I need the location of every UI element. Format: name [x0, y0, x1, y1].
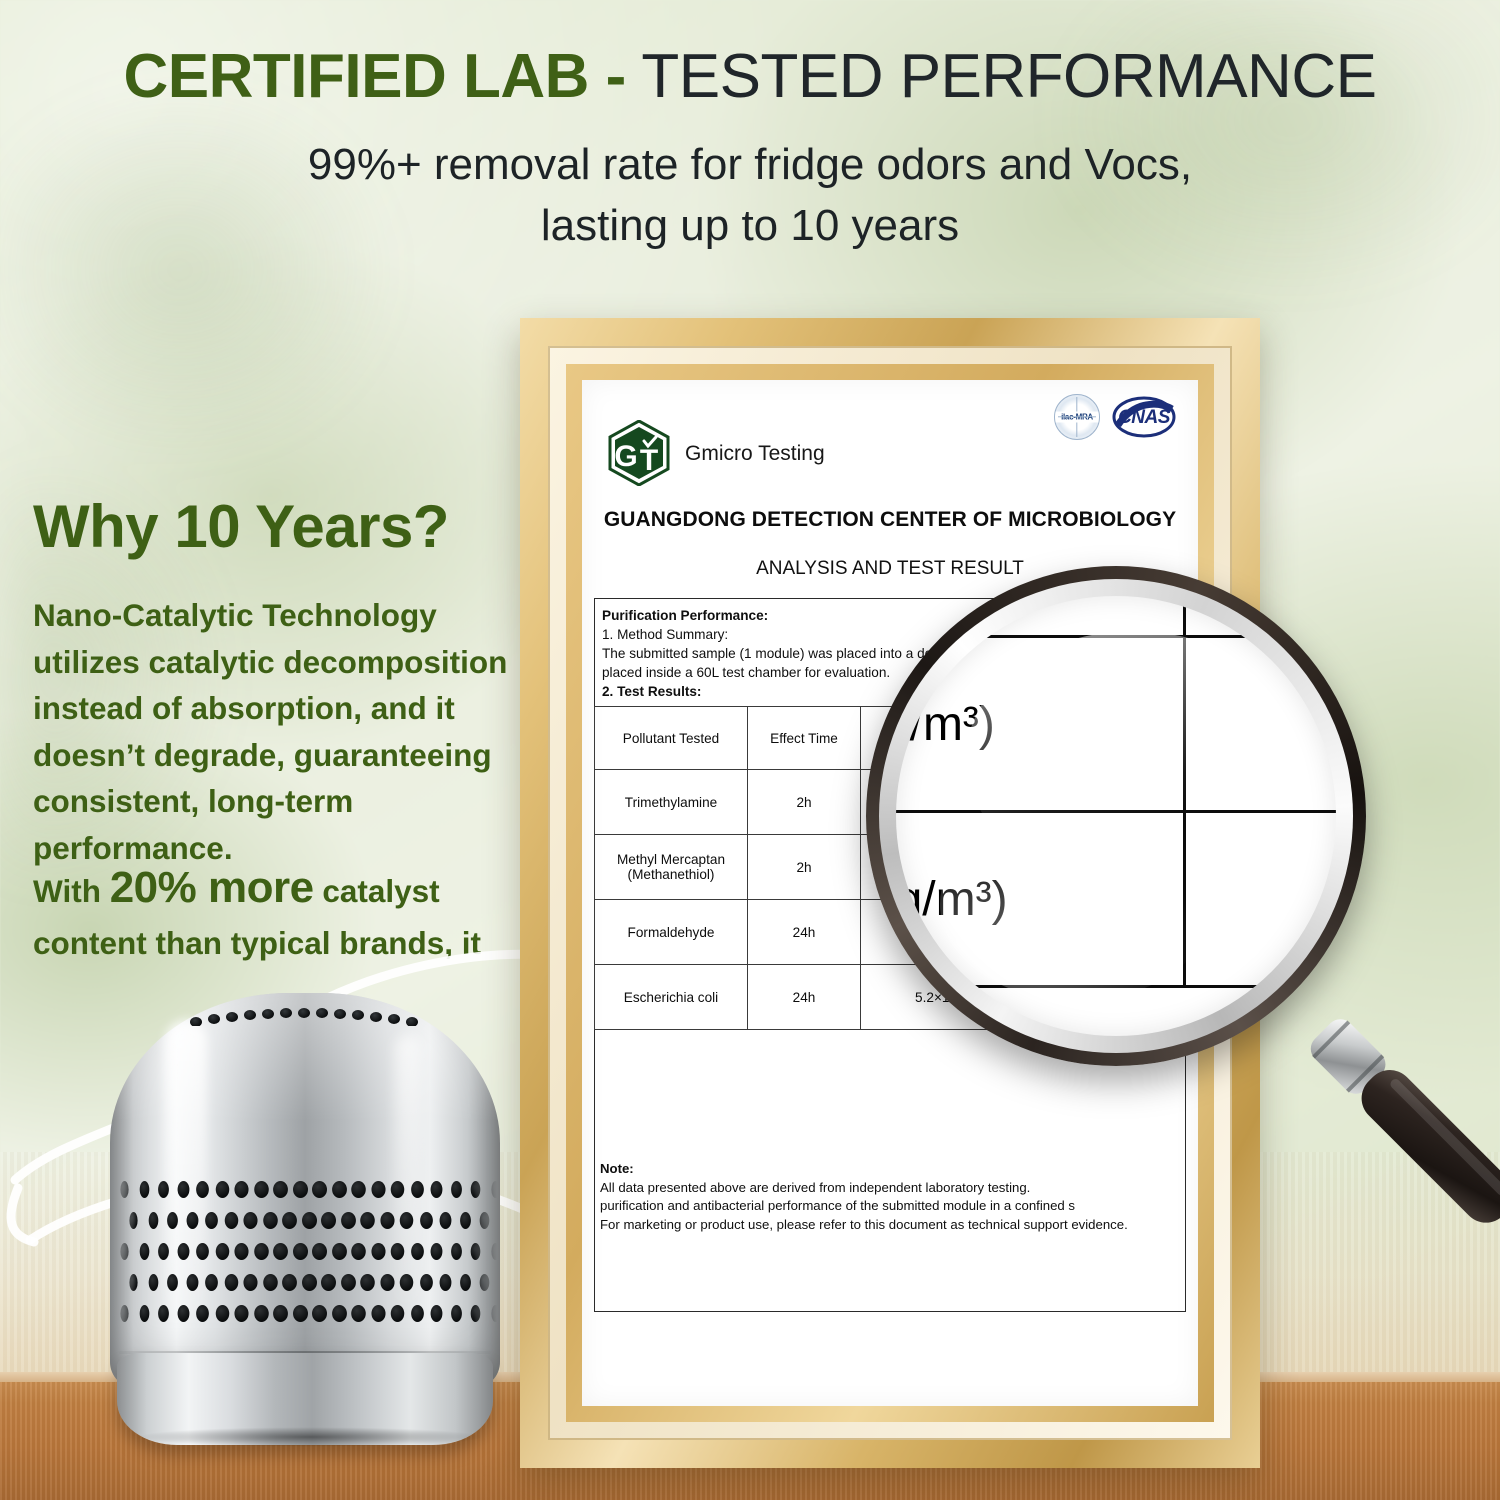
note-line-3: For marketing or product use, please ref…: [600, 1216, 1198, 1235]
note-line-2: purification and antibacterial performan…: [600, 1197, 1198, 1216]
table-cell: Escherichia coli: [595, 965, 748, 1030]
claim-highlight: 20% more: [110, 863, 314, 912]
product-vent-hole-band: [113, 1175, 497, 1335]
gmicro-logo-icon: G T: [608, 420, 670, 486]
column-header: Effect Time: [748, 707, 861, 770]
table-cell: Methyl Mercaptan(Methanethiol): [595, 835, 748, 900]
magnified-after-test-value: 0.0322(mg/m³): [896, 812, 1185, 987]
page-subheadline: 99%+ removal rate for fridge odors and V…: [0, 135, 1500, 256]
magnified-removal-rate: >99.6%: [1185, 637, 1336, 812]
table-cell: 2h: [748, 835, 861, 900]
note-line-1: All data presented above are derived fro…: [600, 1179, 1198, 1198]
why-section-paragraph: Nano-Catalytic Technology utilizes catal…: [33, 592, 545, 872]
table-cell: 24h: [748, 900, 861, 965]
subheadline-line-1: 99%+ removal rate for fridge odors and V…: [0, 135, 1500, 196]
magnified-results-table: <0.01(mg/m³)>99.5%<0.01(mg/m³)>99.6%0.03…: [896, 596, 1336, 988]
svg-text:G: G: [614, 440, 637, 473]
lab-name: Gmicro Testing: [685, 442, 825, 466]
claim-prefix: With: [33, 873, 110, 909]
magnifier-glass: <0.01(mg/m³)>99.5%<0.01(mg/m³)>99.6%0.03…: [866, 566, 1366, 1066]
subheadline-line-2: lasting up to 10 years: [0, 196, 1500, 257]
svg-text:T: T: [640, 444, 658, 477]
column-header: Pollutant Tested: [595, 707, 748, 770]
magnified-removal-rate: >96.7%: [1185, 812, 1336, 987]
magnified-row: <0.01(mg/m³)>99.6%: [896, 637, 1336, 812]
certificate-note-block: Note: All data presented above are deriv…: [600, 1160, 1198, 1235]
magnified-row: 0.0322(mg/m³)>96.7%: [896, 812, 1336, 987]
table-cell: 24h: [748, 965, 861, 1030]
magnified-removal-rate: >99.5%: [1185, 596, 1336, 637]
magnified-after-test-value: <0.01(mg/m³): [896, 596, 1185, 637]
catalyst-claim: With 20% more catalyst content than typi…: [33, 855, 545, 967]
accreditation-logos: ilac-MRA CNAS: [1054, 394, 1176, 440]
magnifier-lens: <0.01(mg/m³)>99.5%<0.01(mg/m³)>99.6%0.03…: [896, 596, 1336, 1036]
table-cell: 2h: [748, 770, 861, 835]
ilac-mra-icon: ilac-MRA: [1054, 394, 1100, 440]
page-headline: CERTIFIED LAB - TESTED PERFORMANCE: [0, 44, 1500, 110]
headline-dark-part: TESTED PERFORMANCE: [626, 42, 1377, 111]
cnas-icon: CNAS: [1112, 395, 1176, 439]
magnified-after-test-value: <0.01(mg/m³): [896, 637, 1185, 812]
product-infographic: CERTIFIED LAB - TESTED PERFORMANCE 99%+ …: [0, 0, 1500, 1500]
ilac-label: ilac-MRA: [1055, 412, 1099, 423]
magnified-row: <0.01(mg/m³)>99.5%: [896, 596, 1336, 637]
note-label: Note:: [600, 1160, 1198, 1179]
table-cell: Trimethylamine: [595, 770, 748, 835]
deodorizer-product-image: [95, 975, 515, 1430]
certificate-org-title: GUANGDONG DETECTION CENTER OF MICROBIOLO…: [582, 508, 1198, 532]
product-drop-shadow: [135, 1427, 485, 1447]
table-cell: Formaldehyde: [595, 900, 748, 965]
cnas-label: CNAS: [1112, 407, 1176, 429]
why-section-title: Why 10 Years?: [33, 492, 449, 561]
product-top-vent-holes: [190, 1000, 422, 1026]
headline-green-part: CERTIFIED LAB -: [124, 42, 626, 111]
